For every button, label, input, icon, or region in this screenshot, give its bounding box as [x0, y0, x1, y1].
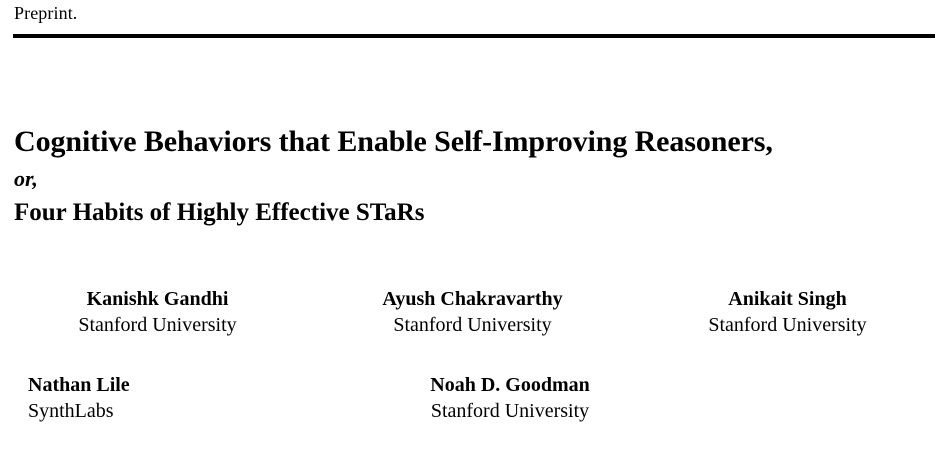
- author-affiliation: Stanford University: [0, 312, 315, 338]
- author-entry: Noah D. Goodman Stanford University: [245, 372, 775, 424]
- author-name: Kanishk Gandhi: [0, 286, 315, 312]
- paper-title-block: Cognitive Behaviors that Enable Self-Imp…: [14, 122, 934, 231]
- author-entry: Anikait Singh Stanford University: [630, 286, 945, 338]
- author-entry: Kanishk Gandhi Stanford University: [0, 286, 315, 338]
- author-name: Anikait Singh: [630, 286, 945, 312]
- author-entry: Ayush Chakravarthy Stanford University: [315, 286, 630, 338]
- author-affiliation: SynthLabs: [28, 398, 245, 424]
- author-block: Kanishk Gandhi Stanford University Ayush…: [0, 286, 945, 424]
- page-subtitle: Four Habits of Highly Effective STaRs: [14, 195, 934, 231]
- author-name: Nathan Lile: [28, 372, 245, 398]
- author-affiliation: Stanford University: [245, 398, 775, 424]
- author-entry: Nathan Lile SynthLabs: [0, 372, 245, 424]
- author-name: Ayush Chakravarthy: [315, 286, 630, 312]
- page-title: Cognitive Behaviors that Enable Self-Imp…: [14, 122, 934, 162]
- author-row: Nathan Lile SynthLabs Noah D. Goodman St…: [0, 372, 945, 424]
- author-affiliation: Stanford University: [630, 312, 945, 338]
- title-conjunction: or,: [14, 162, 934, 195]
- header-rule: [13, 34, 935, 38]
- author-row: Kanishk Gandhi Stanford University Ayush…: [0, 286, 945, 338]
- author-name: Noah D. Goodman: [245, 372, 775, 398]
- paper-first-page: Preprint. Cognitive Behaviors that Enabl…: [0, 0, 945, 458]
- author-affiliation: Stanford University: [315, 312, 630, 338]
- running-header: Preprint.: [14, 2, 77, 24]
